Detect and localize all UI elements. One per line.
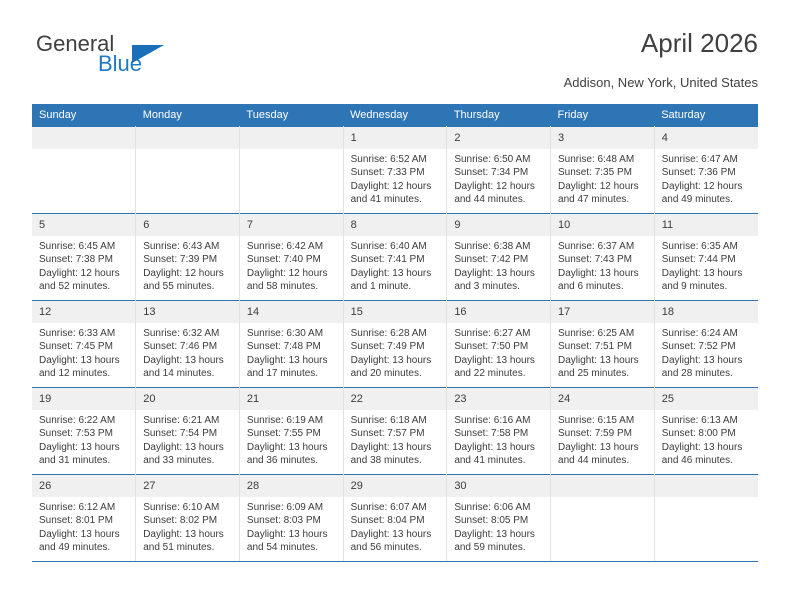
day-number: 14 (240, 301, 343, 323)
daylight-text-line1: Daylight: 12 hours (247, 267, 337, 280)
daylight-text-line2: and 28 minutes. (662, 367, 752, 380)
daylight-text-line1: Daylight: 12 hours (39, 267, 129, 280)
sunrise-text: Sunrise: 6:35 AM (662, 240, 752, 253)
day-number: 15 (344, 301, 447, 323)
sunset-text: Sunset: 7:49 PM (351, 340, 441, 353)
calendar-week-row: 19Sunrise: 6:22 AMSunset: 7:53 PMDayligh… (32, 388, 758, 475)
calendar-day-cell[interactable]: 29Sunrise: 6:07 AMSunset: 8:04 PMDayligh… (343, 475, 447, 562)
daylight-text-line1: Daylight: 12 hours (351, 180, 441, 193)
calendar-day-cell[interactable]: 30Sunrise: 6:06 AMSunset: 8:05 PMDayligh… (447, 475, 551, 562)
sunset-text: Sunset: 7:51 PM (558, 340, 648, 353)
calendar-body: 1Sunrise: 6:52 AMSunset: 7:33 PMDaylight… (32, 127, 758, 562)
daylight-text-line2: and 46 minutes. (662, 454, 752, 467)
daylight-text-line2: and 56 minutes. (351, 541, 441, 554)
sunset-text: Sunset: 7:36 PM (662, 166, 752, 179)
calendar-day-cell[interactable]: 13Sunrise: 6:32 AMSunset: 7:46 PMDayligh… (136, 301, 240, 388)
sunrise-text: Sunrise: 6:42 AM (247, 240, 337, 253)
sunrise-text: Sunrise: 6:18 AM (351, 414, 441, 427)
sunset-text: Sunset: 7:50 PM (454, 340, 544, 353)
calendar-day-cell[interactable]: 18Sunrise: 6:24 AMSunset: 7:52 PMDayligh… (654, 301, 758, 388)
day-details: Sunrise: 6:09 AMSunset: 8:03 PMDaylight:… (240, 497, 343, 555)
daylight-text-line2: and 49 minutes. (662, 193, 752, 206)
page-subtitle: Addison, New York, United States (564, 74, 758, 92)
day-details: Sunrise: 6:50 AMSunset: 7:34 PMDaylight:… (447, 149, 550, 207)
calendar-header-row: Sunday Monday Tuesday Wednesday Thursday… (32, 104, 758, 127)
day-number: 9 (447, 214, 550, 236)
sunset-text: Sunset: 7:35 PM (558, 166, 648, 179)
sunset-text: Sunset: 7:44 PM (662, 253, 752, 266)
daylight-text-line2: and 25 minutes. (558, 367, 648, 380)
day-details: Sunrise: 6:13 AMSunset: 8:00 PMDaylight:… (655, 410, 758, 468)
day-number (655, 475, 758, 497)
calendar-day-cell[interactable]: 24Sunrise: 6:15 AMSunset: 7:59 PMDayligh… (551, 388, 655, 475)
sunrise-text: Sunrise: 6:13 AM (662, 414, 752, 427)
sunrise-text: Sunrise: 6:06 AM (454, 501, 544, 514)
day-number: 13 (136, 301, 239, 323)
day-number: 12 (32, 301, 135, 323)
day-details: Sunrise: 6:52 AMSunset: 7:33 PMDaylight:… (344, 149, 447, 207)
daylight-text-line2: and 54 minutes. (247, 541, 337, 554)
day-number (32, 127, 135, 149)
calendar-week-row: 5Sunrise: 6:45 AMSunset: 7:38 PMDaylight… (32, 214, 758, 301)
sunrise-text: Sunrise: 6:12 AM (39, 501, 129, 514)
daylight-text-line2: and 41 minutes. (454, 454, 544, 467)
day-details: Sunrise: 6:22 AMSunset: 7:53 PMDaylight:… (32, 410, 135, 468)
day-number: 8 (344, 214, 447, 236)
calendar-day-cell-empty (32, 127, 136, 214)
page-header: General Blue April 2026 Addison, New Yor… (32, 28, 758, 100)
day-number: 19 (32, 388, 135, 410)
sunset-text: Sunset: 7:59 PM (558, 427, 648, 440)
day-details: Sunrise: 6:33 AMSunset: 7:45 PMDaylight:… (32, 323, 135, 381)
daylight-text-line1: Daylight: 12 hours (454, 180, 544, 193)
daylight-text-line2: and 44 minutes. (558, 454, 648, 467)
sunrise-text: Sunrise: 6:48 AM (558, 153, 648, 166)
day-details: Sunrise: 6:28 AMSunset: 7:49 PMDaylight:… (344, 323, 447, 381)
day-details: Sunrise: 6:43 AMSunset: 7:39 PMDaylight:… (136, 236, 239, 294)
sunset-text: Sunset: 7:52 PM (662, 340, 752, 353)
calendar-day-cell[interactable]: 7Sunrise: 6:42 AMSunset: 7:40 PMDaylight… (239, 214, 343, 301)
sunset-text: Sunset: 7:48 PM (247, 340, 337, 353)
sunset-text: Sunset: 7:39 PM (143, 253, 233, 266)
sunrise-text: Sunrise: 6:30 AM (247, 327, 337, 340)
day-number: 24 (551, 388, 654, 410)
calendar-day-cell[interactable]: 26Sunrise: 6:12 AMSunset: 8:01 PMDayligh… (32, 475, 136, 562)
day-number: 1 (344, 127, 447, 149)
day-details: Sunrise: 6:32 AMSunset: 7:46 PMDaylight:… (136, 323, 239, 381)
sunrise-text: Sunrise: 6:10 AM (143, 501, 233, 514)
sunset-text: Sunset: 7:58 PM (454, 427, 544, 440)
sunrise-text: Sunrise: 6:43 AM (143, 240, 233, 253)
day-number: 29 (344, 475, 447, 497)
daylight-text-line1: Daylight: 13 hours (351, 441, 441, 454)
calendar-day-cell[interactable]: 3Sunrise: 6:48 AMSunset: 7:35 PMDaylight… (551, 127, 655, 214)
sunrise-text: Sunrise: 6:16 AM (454, 414, 544, 427)
day-number: 20 (136, 388, 239, 410)
calendar-day-cell[interactable]: 8Sunrise: 6:40 AMSunset: 7:41 PMDaylight… (343, 214, 447, 301)
day-details: Sunrise: 6:45 AMSunset: 7:38 PMDaylight:… (32, 236, 135, 294)
calendar-day-cell-empty (654, 475, 758, 562)
sunset-text: Sunset: 7:45 PM (39, 340, 129, 353)
sunset-text: Sunset: 7:41 PM (351, 253, 441, 266)
sunrise-text: Sunrise: 6:40 AM (351, 240, 441, 253)
daylight-text-line2: and 3 minutes. (454, 280, 544, 293)
weekday-header-wednesday: Wednesday (343, 104, 447, 127)
daylight-text-line2: and 59 minutes. (454, 541, 544, 554)
sunset-text: Sunset: 8:04 PM (351, 514, 441, 527)
day-number: 7 (240, 214, 343, 236)
day-number: 2 (447, 127, 550, 149)
calendar-day-cell[interactable]: 25Sunrise: 6:13 AMSunset: 8:00 PMDayligh… (654, 388, 758, 475)
daylight-text-line1: Daylight: 13 hours (39, 528, 129, 541)
daylight-text-line2: and 51 minutes. (143, 541, 233, 554)
day-details: Sunrise: 6:18 AMSunset: 7:57 PMDaylight:… (344, 410, 447, 468)
sunset-text: Sunset: 8:02 PM (143, 514, 233, 527)
day-number: 28 (240, 475, 343, 497)
calendar-day-cell[interactable]: 19Sunrise: 6:22 AMSunset: 7:53 PMDayligh… (32, 388, 136, 475)
sunrise-text: Sunrise: 6:07 AM (351, 501, 441, 514)
daylight-text-line2: and 6 minutes. (558, 280, 648, 293)
daylight-text-line1: Daylight: 13 hours (143, 441, 233, 454)
day-details: Sunrise: 6:48 AMSunset: 7:35 PMDaylight:… (551, 149, 654, 207)
daylight-text-line2: and 12 minutes. (39, 367, 129, 380)
daylight-text-line2: and 55 minutes. (143, 280, 233, 293)
weekday-header-monday: Monday (136, 104, 240, 127)
day-details: Sunrise: 6:07 AMSunset: 8:04 PMDaylight:… (344, 497, 447, 555)
daylight-text-line2: and 9 minutes. (662, 280, 752, 293)
day-details: Sunrise: 6:19 AMSunset: 7:55 PMDaylight:… (240, 410, 343, 468)
day-number (551, 475, 654, 497)
daylight-text-line1: Daylight: 13 hours (351, 267, 441, 280)
calendar-day-cell[interactable]: 27Sunrise: 6:10 AMSunset: 8:02 PMDayligh… (136, 475, 240, 562)
weekday-header-friday: Friday (551, 104, 655, 127)
daylight-text-line1: Daylight: 13 hours (247, 441, 337, 454)
daylight-text-line2: and 31 minutes. (39, 454, 129, 467)
sunset-text: Sunset: 7:42 PM (454, 253, 544, 266)
day-number: 6 (136, 214, 239, 236)
daylight-text-line1: Daylight: 13 hours (454, 441, 544, 454)
day-number: 10 (551, 214, 654, 236)
calendar-week-row: 1Sunrise: 6:52 AMSunset: 7:33 PMDaylight… (32, 127, 758, 214)
day-number: 26 (32, 475, 135, 497)
daylight-text-line2: and 49 minutes. (39, 541, 129, 554)
daylight-text-line2: and 17 minutes. (247, 367, 337, 380)
daylight-text-line2: and 47 minutes. (558, 193, 648, 206)
daylight-text-line1: Daylight: 13 hours (454, 528, 544, 541)
day-details: Sunrise: 6:38 AMSunset: 7:42 PMDaylight:… (447, 236, 550, 294)
sunset-text: Sunset: 8:03 PM (247, 514, 337, 527)
sunrise-text: Sunrise: 6:28 AM (351, 327, 441, 340)
daylight-text-line1: Daylight: 12 hours (662, 180, 752, 193)
day-details: Sunrise: 6:10 AMSunset: 8:02 PMDaylight:… (136, 497, 239, 555)
weekday-header-saturday: Saturday (654, 104, 758, 127)
sunset-text: Sunset: 7:40 PM (247, 253, 337, 266)
day-number: 3 (551, 127, 654, 149)
sunrise-text: Sunrise: 6:22 AM (39, 414, 129, 427)
day-details: Sunrise: 6:40 AMSunset: 7:41 PMDaylight:… (344, 236, 447, 294)
daylight-text-line1: Daylight: 13 hours (662, 441, 752, 454)
calendar-day-cell[interactable]: 2Sunrise: 6:50 AMSunset: 7:34 PMDaylight… (447, 127, 551, 214)
sunset-text: Sunset: 7:53 PM (39, 427, 129, 440)
calendar-day-cell[interactable]: 22Sunrise: 6:18 AMSunset: 7:57 PMDayligh… (343, 388, 447, 475)
day-number: 17 (551, 301, 654, 323)
calendar-day-cell[interactable]: 11Sunrise: 6:35 AMSunset: 7:44 PMDayligh… (654, 214, 758, 301)
daylight-text-line1: Daylight: 13 hours (454, 354, 544, 367)
sunrise-text: Sunrise: 6:19 AM (247, 414, 337, 427)
day-details: Sunrise: 6:47 AMSunset: 7:36 PMDaylight:… (655, 149, 758, 207)
daylight-text-line2: and 14 minutes. (143, 367, 233, 380)
daylight-text-line1: Daylight: 13 hours (558, 354, 648, 367)
daylight-text-line2: and 20 minutes. (351, 367, 441, 380)
day-number: 5 (32, 214, 135, 236)
day-details: Sunrise: 6:42 AMSunset: 7:40 PMDaylight:… (240, 236, 343, 294)
daylight-text-line1: Daylight: 13 hours (351, 354, 441, 367)
day-details: Sunrise: 6:24 AMSunset: 7:52 PMDaylight:… (655, 323, 758, 381)
calendar-day-cell[interactable]: 1Sunrise: 6:52 AMSunset: 7:33 PMDaylight… (343, 127, 447, 214)
day-number: 21 (240, 388, 343, 410)
calendar-day-cell[interactable]: 16Sunrise: 6:27 AMSunset: 7:50 PMDayligh… (447, 301, 551, 388)
daylight-text-line2: and 33 minutes. (143, 454, 233, 467)
general-blue-logo[interactable]: General Blue (36, 32, 236, 88)
daylight-text-line1: Daylight: 13 hours (247, 354, 337, 367)
day-number: 22 (344, 388, 447, 410)
day-details: Sunrise: 6:06 AMSunset: 8:05 PMDaylight:… (447, 497, 550, 555)
daylight-text-line1: Daylight: 13 hours (39, 354, 129, 367)
day-details: Sunrise: 6:37 AMSunset: 7:43 PMDaylight:… (551, 236, 654, 294)
day-number: 30 (447, 475, 550, 497)
sunset-text: Sunset: 7:55 PM (247, 427, 337, 440)
weekday-header-tuesday: Tuesday (239, 104, 343, 127)
weekday-header-sunday: Sunday (32, 104, 136, 127)
sunrise-text: Sunrise: 6:45 AM (39, 240, 129, 253)
calendar-day-cell[interactable]: 23Sunrise: 6:16 AMSunset: 7:58 PMDayligh… (447, 388, 551, 475)
day-number: 16 (447, 301, 550, 323)
calendar-day-cell[interactable]: 5Sunrise: 6:45 AMSunset: 7:38 PMDaylight… (32, 214, 136, 301)
sunrise-text: Sunrise: 6:33 AM (39, 327, 129, 340)
sunset-text: Sunset: 8:01 PM (39, 514, 129, 527)
day-number: 23 (447, 388, 550, 410)
sunset-text: Sunset: 8:00 PM (662, 427, 752, 440)
daylight-text-line2: and 36 minutes. (247, 454, 337, 467)
calendar-day-cell[interactable]: 9Sunrise: 6:38 AMSunset: 7:42 PMDaylight… (447, 214, 551, 301)
daylight-text-line2: and 1 minute. (351, 280, 441, 293)
sunset-text: Sunset: 7:46 PM (143, 340, 233, 353)
sunrise-text: Sunrise: 6:37 AM (558, 240, 648, 253)
daylight-text-line2: and 22 minutes. (454, 367, 544, 380)
sunrise-text: Sunrise: 6:24 AM (662, 327, 752, 340)
sunrise-text: Sunrise: 6:25 AM (558, 327, 648, 340)
day-details: Sunrise: 6:21 AMSunset: 7:54 PMDaylight:… (136, 410, 239, 468)
sunrise-text: Sunrise: 6:15 AM (558, 414, 648, 427)
calendar-page: General Blue April 2026 Addison, New Yor… (0, 0, 792, 612)
calendar-day-cell[interactable]: 28Sunrise: 6:09 AMSunset: 8:03 PMDayligh… (239, 475, 343, 562)
day-details: Sunrise: 6:15 AMSunset: 7:59 PMDaylight:… (551, 410, 654, 468)
day-details: Sunrise: 6:35 AMSunset: 7:44 PMDaylight:… (655, 236, 758, 294)
calendar-day-cell[interactable]: 17Sunrise: 6:25 AMSunset: 7:51 PMDayligh… (551, 301, 655, 388)
sunrise-text: Sunrise: 6:47 AM (662, 153, 752, 166)
day-details: Sunrise: 6:27 AMSunset: 7:50 PMDaylight:… (447, 323, 550, 381)
day-number: 4 (655, 127, 758, 149)
calendar-day-cell[interactable]: 14Sunrise: 6:30 AMSunset: 7:48 PMDayligh… (239, 301, 343, 388)
daylight-text-line2: and 38 minutes. (351, 454, 441, 467)
calendar-day-cell[interactable]: 20Sunrise: 6:21 AMSunset: 7:54 PMDayligh… (136, 388, 240, 475)
calendar-week-row: 26Sunrise: 6:12 AMSunset: 8:01 PMDayligh… (32, 475, 758, 562)
daylight-text-line1: Daylight: 13 hours (143, 354, 233, 367)
sunset-text: Sunset: 8:05 PM (454, 514, 544, 527)
daylight-text-line1: Daylight: 13 hours (39, 441, 129, 454)
logo-text-blue: Blue (98, 53, 236, 75)
month-calendar-table: Sunday Monday Tuesday Wednesday Thursday… (32, 104, 758, 562)
day-number: 18 (655, 301, 758, 323)
sunset-text: Sunset: 7:38 PM (39, 253, 129, 266)
daylight-text-line1: Daylight: 13 hours (143, 528, 233, 541)
sunrise-text: Sunrise: 6:21 AM (143, 414, 233, 427)
weekday-header-thursday: Thursday (447, 104, 551, 127)
daylight-text-line1: Daylight: 13 hours (662, 354, 752, 367)
sunset-text: Sunset: 7:33 PM (351, 166, 441, 179)
daylight-text-line1: Daylight: 13 hours (247, 528, 337, 541)
calendar-day-cell[interactable]: 6Sunrise: 6:43 AMSunset: 7:39 PMDaylight… (136, 214, 240, 301)
calendar-day-cell-empty (136, 127, 240, 214)
sunrise-text: Sunrise: 6:50 AM (454, 153, 544, 166)
calendar-day-cell-empty (239, 127, 343, 214)
day-number: 25 (655, 388, 758, 410)
sunrise-text: Sunrise: 6:38 AM (454, 240, 544, 253)
daylight-text-line2: and 41 minutes. (351, 193, 441, 206)
day-details: Sunrise: 6:16 AMSunset: 7:58 PMDaylight:… (447, 410, 550, 468)
sunset-text: Sunset: 7:54 PM (143, 427, 233, 440)
sunrise-text: Sunrise: 6:52 AM (351, 153, 441, 166)
page-title: April 2026 (564, 28, 758, 58)
day-number (136, 127, 239, 149)
calendar-day-cell[interactable]: 10Sunrise: 6:37 AMSunset: 7:43 PMDayligh… (551, 214, 655, 301)
sunset-text: Sunset: 7:43 PM (558, 253, 648, 266)
title-block: April 2026 Addison, New York, United Sta… (564, 28, 758, 92)
sunset-text: Sunset: 7:57 PM (351, 427, 441, 440)
sunset-text: Sunset: 7:34 PM (454, 166, 544, 179)
daylight-text-line1: Daylight: 13 hours (558, 441, 648, 454)
day-details: Sunrise: 6:25 AMSunset: 7:51 PMDaylight:… (551, 323, 654, 381)
calendar-day-cell[interactable]: 12Sunrise: 6:33 AMSunset: 7:45 PMDayligh… (32, 301, 136, 388)
calendar-day-cell[interactable]: 15Sunrise: 6:28 AMSunset: 7:49 PMDayligh… (343, 301, 447, 388)
daylight-text-line1: Daylight: 13 hours (351, 528, 441, 541)
day-details: Sunrise: 6:30 AMSunset: 7:48 PMDaylight:… (240, 323, 343, 381)
calendar-day-cell-empty (551, 475, 655, 562)
day-details: Sunrise: 6:12 AMSunset: 8:01 PMDaylight:… (32, 497, 135, 555)
calendar-week-row: 12Sunrise: 6:33 AMSunset: 7:45 PMDayligh… (32, 301, 758, 388)
sunrise-text: Sunrise: 6:09 AM (247, 501, 337, 514)
calendar-day-cell[interactable]: 21Sunrise: 6:19 AMSunset: 7:55 PMDayligh… (239, 388, 343, 475)
daylight-text-line2: and 58 minutes. (247, 280, 337, 293)
sunrise-text: Sunrise: 6:27 AM (454, 327, 544, 340)
logo-triangle-icon (132, 45, 164, 63)
daylight-text-line1: Daylight: 12 hours (558, 180, 648, 193)
day-number: 27 (136, 475, 239, 497)
daylight-text-line2: and 44 minutes. (454, 193, 544, 206)
daylight-text-line1: Daylight: 13 hours (662, 267, 752, 280)
sunrise-text: Sunrise: 6:32 AM (143, 327, 233, 340)
daylight-text-line1: Daylight: 12 hours (143, 267, 233, 280)
daylight-text-line1: Daylight: 13 hours (454, 267, 544, 280)
daylight-text-line1: Daylight: 13 hours (558, 267, 648, 280)
day-number: 11 (655, 214, 758, 236)
daylight-text-line2: and 52 minutes. (39, 280, 129, 293)
day-number (240, 127, 343, 149)
calendar-day-cell[interactable]: 4Sunrise: 6:47 AMSunset: 7:36 PMDaylight… (654, 127, 758, 214)
